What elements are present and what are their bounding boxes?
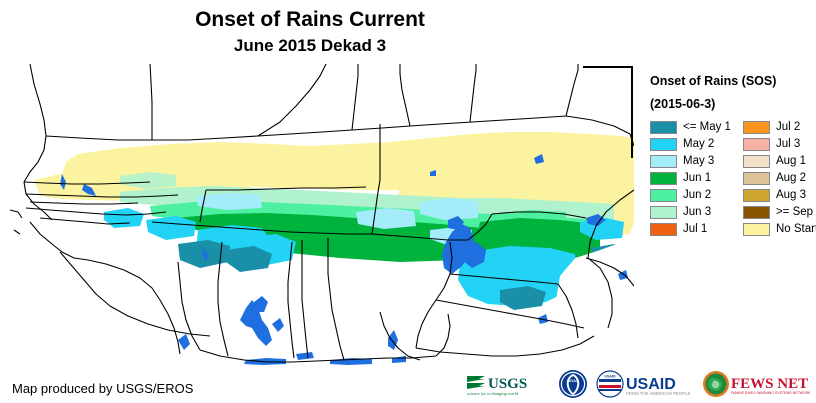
- legend-item-may2[interactable]: May 2: [650, 136, 731, 152]
- legend-label-aug3: Aug 3: [776, 189, 806, 201]
- map-page: Onset of Rains Current June 2015 Dekad 3: [0, 0, 816, 403]
- usaid-seal-text: USAID: [604, 375, 616, 379]
- fewsnet-tagline: FAMINE EARLY WARNING SYSTEMS NETWORK: [731, 391, 810, 395]
- legend-label-jul1: Jul 1: [683, 223, 707, 235]
- page-subtitle: June 2015 Dekad 3: [0, 36, 620, 56]
- legend-item-jun3[interactable]: Jun 3: [650, 204, 731, 220]
- legend-item-jul3[interactable]: Jul 3: [743, 136, 816, 152]
- legend-swatch-may3: [650, 155, 677, 168]
- legend-swatch-jun3: [650, 206, 677, 219]
- legend-heading: Onset of Rains (SOS): [650, 74, 816, 88]
- legend-item-jun1[interactable]: Jun 1: [650, 170, 731, 186]
- legend-label-jul2: Jul 2: [776, 121, 800, 133]
- usaid-logo: USAID USAID FROM THE AMERICAN PEOPLE: [595, 369, 695, 399]
- map-frame-divider: [631, 66, 633, 158]
- legend-label-jun3: Jun 3: [683, 206, 711, 218]
- legend-swatch-aug1: [743, 155, 770, 168]
- legend-item-may3[interactable]: May 3: [650, 153, 731, 169]
- map-credit: Map produced by USGS/EROS: [12, 381, 193, 396]
- legend-item-aug1[interactable]: Aug 1: [743, 153, 816, 169]
- legend-swatch-nostart: [743, 223, 770, 236]
- legend-label-jul3: Jul 3: [776, 138, 800, 150]
- legend-label-jun1: Jun 1: [683, 172, 711, 184]
- fewsnet-wordmark: FEWS NET: [731, 376, 808, 392]
- usaid-tagline: FROM THE AMERICAN PEOPLE: [626, 391, 691, 396]
- legend-label-jun2: Jun 2: [683, 189, 711, 201]
- legend-column-right: Jul 2 Jul 3 Aug 1 Aug 2 Aug 3: [743, 119, 816, 238]
- legend-swatch-jul1: [650, 223, 677, 236]
- legend-swatch-jul3: [743, 138, 770, 151]
- page-title: Onset of Rains Current: [0, 8, 620, 32]
- legend-swatch-sep1: [743, 206, 770, 219]
- legend-label-may3: May 3: [683, 155, 714, 167]
- map-frame-divider-top: [583, 66, 633, 68]
- west-africa-map[interactable]: [0, 62, 634, 372]
- legend-label-nostart: No Start: [776, 223, 816, 235]
- legend-label-aug1: Aug 1: [776, 155, 806, 167]
- noaa-wordmark: NOAA: [567, 378, 579, 383]
- fewsnet-logo: FEWS NET FAMINE EARLY WARNING SYSTEMS NE…: [702, 369, 810, 399]
- noaa-logo: NOAA: [558, 369, 588, 399]
- legend-item-aug3[interactable]: Aug 3: [743, 187, 816, 203]
- legend-item-sep1[interactable]: >= Sep 1: [743, 204, 816, 220]
- legend-swatch-jun1: [650, 172, 677, 185]
- legend-swatch-aug2: [743, 172, 770, 185]
- legend-label-sep1: >= Sep 1: [776, 206, 816, 218]
- usgs-logo: USGS science for a changing world: [465, 370, 551, 398]
- legend-swatch-jul2: [743, 121, 770, 134]
- legend-swatch-jun2: [650, 189, 677, 202]
- usgs-tagline: science for a changing world: [467, 391, 519, 396]
- legend-label-may1: <= May 1: [683, 121, 731, 133]
- usgs-wordmark: USGS: [488, 376, 527, 392]
- legend-item-jul2[interactable]: Jul 2: [743, 119, 816, 135]
- legend-item-aug2[interactable]: Aug 2: [743, 170, 816, 186]
- legend-item-nostart[interactable]: No Start: [743, 221, 816, 237]
- legend-item-jun2[interactable]: Jun 2: [650, 187, 731, 203]
- logo-strip: USGS science for a changing world NOAA U…: [465, 369, 810, 399]
- legend-item-jul1[interactable]: Jul 1: [650, 221, 731, 237]
- legend-date: (2015-06-3): [650, 97, 816, 111]
- legend-label-aug2: Aug 2: [776, 172, 806, 184]
- legend-item-may1[interactable]: <= May 1: [650, 119, 731, 135]
- legend-swatch-may2: [650, 138, 677, 151]
- map-canvas[interactable]: [0, 62, 634, 372]
- legend-swatch-may1: [650, 121, 677, 134]
- legend-label-may2: May 2: [683, 138, 714, 150]
- legend-swatch-aug3: [743, 189, 770, 202]
- legend-panel: Onset of Rains (SOS) (2015-06-3) <= May …: [650, 74, 816, 238]
- legend-column-left: <= May 1 May 2 May 3 Jun 1 Jun 2: [650, 119, 731, 238]
